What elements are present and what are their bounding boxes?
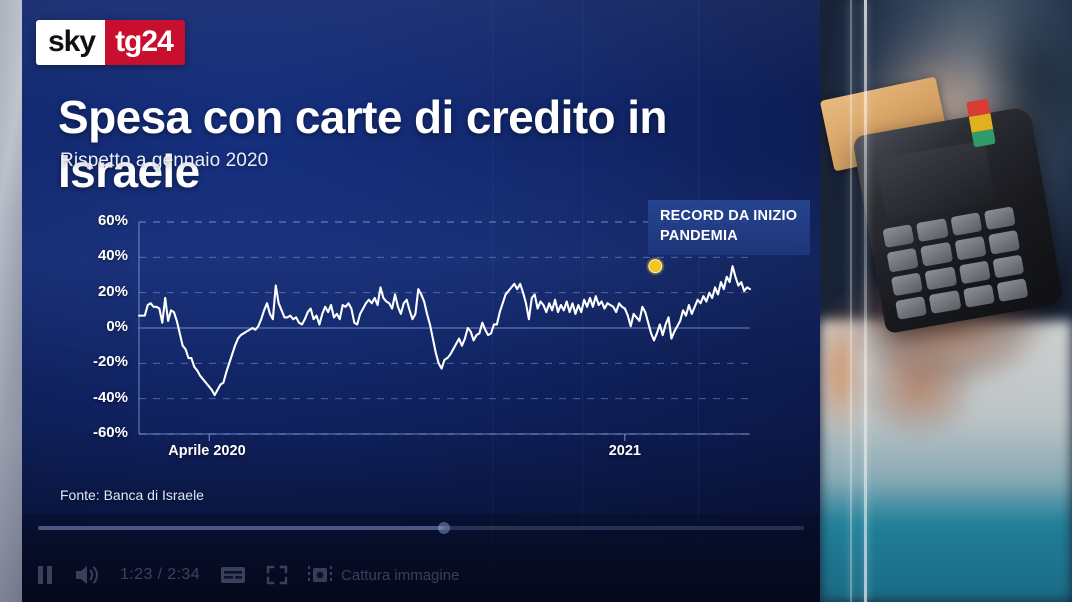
time-display: 1:23 / 2:34 bbox=[120, 566, 200, 584]
desktop-edge-strip bbox=[0, 0, 22, 602]
volume-icon bbox=[74, 564, 100, 586]
controls-row: 1:23 / 2:34 bbox=[36, 554, 459, 596]
screenshot-stage: sky tg24 Spesa con carte di credito in I… bbox=[0, 0, 1072, 602]
terminal-keypad bbox=[882, 206, 1028, 320]
y-tick-label: -60% bbox=[66, 424, 128, 441]
capture-image-button[interactable]: Cattura immagine bbox=[308, 564, 459, 586]
video-player-surface[interactable]: sky tg24 Spesa con carte di credito in I… bbox=[22, 0, 1072, 602]
capture-image-label: Cattura immagine bbox=[341, 567, 459, 584]
y-tick-label: 20% bbox=[66, 283, 128, 300]
captions-icon bbox=[220, 565, 246, 585]
pause-icon bbox=[36, 565, 54, 585]
source-note: Fonte: Banca di Israele bbox=[60, 487, 204, 503]
pause-button[interactable] bbox=[36, 565, 54, 585]
y-tick-label: -40% bbox=[66, 389, 128, 406]
x-tick-label: Aprile 2020 bbox=[168, 443, 245, 459]
fullscreen-icon bbox=[266, 565, 288, 585]
captions-button[interactable] bbox=[220, 565, 246, 585]
y-tick-label: 60% bbox=[66, 212, 128, 229]
record-callout: RECORD DA INIZIO PANDEMIA bbox=[648, 200, 810, 255]
y-tick-label: -20% bbox=[66, 353, 128, 370]
x-tick-label: 2021 bbox=[609, 443, 641, 459]
callout-line-2: PANDEMIA bbox=[660, 227, 800, 247]
line-chart: 60%40%20%0%-20%-40%-60% Aprile 20202021 bbox=[22, 0, 820, 602]
y-tick-label: 0% bbox=[66, 318, 128, 335]
video-controls-bar[interactable]: 1:23 / 2:34 bbox=[22, 514, 820, 602]
chart-svg bbox=[22, 0, 820, 602]
progress-bar[interactable] bbox=[38, 526, 804, 530]
terminal-screen bbox=[876, 140, 995, 220]
progress-fill bbox=[38, 526, 444, 530]
fullscreen-button[interactable] bbox=[266, 565, 288, 585]
progress-handle[interactable] bbox=[438, 522, 450, 534]
volume-button[interactable] bbox=[74, 564, 100, 586]
y-tick-label: 40% bbox=[66, 247, 128, 264]
edge-strip-shine bbox=[0, 0, 22, 602]
card-terminal-body bbox=[852, 106, 1064, 334]
glass-divider-line-1 bbox=[864, 0, 867, 602]
pos-terminal-photo bbox=[820, 0, 1072, 602]
glass-divider-line-2 bbox=[850, 0, 852, 602]
camera-capture-icon bbox=[308, 564, 332, 586]
callout-line-1: RECORD DA INIZIO bbox=[660, 207, 800, 227]
